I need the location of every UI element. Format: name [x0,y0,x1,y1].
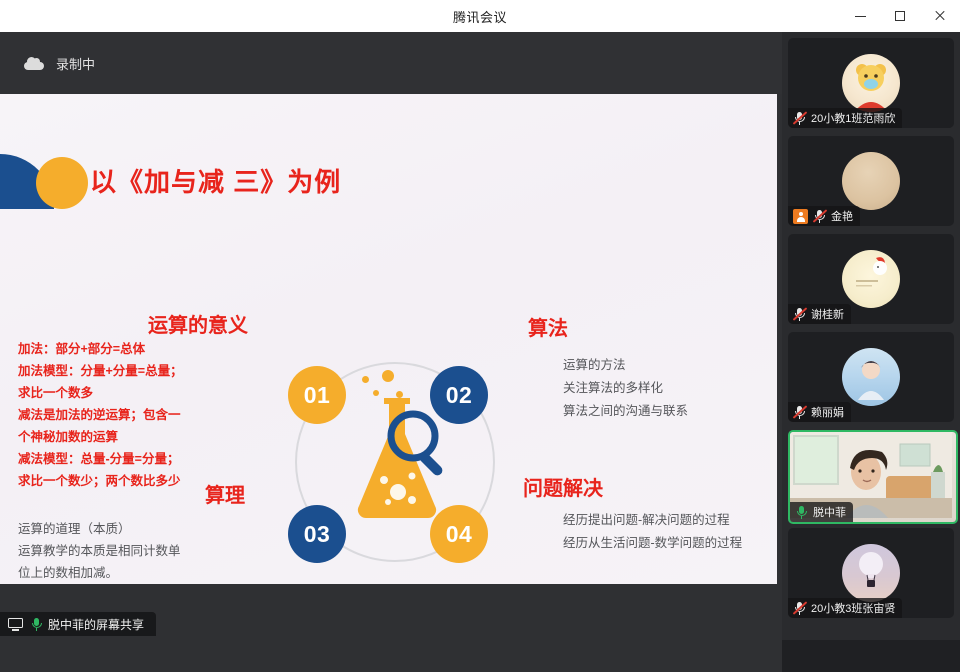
avatar [842,152,900,210]
participant-tile-active-speaker[interactable]: 脱中菲 [788,430,958,524]
avatar [842,544,900,602]
presentation-slide: 以《加与减 三》为例 运算的意义 加法：部分+部分=总体 加法模型：分量+分量=… [0,94,777,584]
method-line: 算法之间的沟通与联系 [563,400,688,423]
participant-name: 赖丽娟 [811,404,844,420]
heading-meaning: 运算的意义 [148,309,248,338]
participant-list[interactable]: 20小教1班范雨欣 金艳 [782,32,960,640]
slide-decoration [0,154,90,209]
meaning-line: 求比一个数少；两个数比多少 [18,470,183,492]
participant-label: 20小教3班张宙贤 [788,598,902,618]
close-icon [934,10,946,22]
heading-problem-solving: 问题解决 [523,472,603,501]
participant-tile[interactable]: 20小教1班范雨欣 [788,38,954,128]
diagram-node-02: 02 [430,366,488,424]
participant-tile[interactable]: 赖丽娟 [788,332,954,422]
reason-text-block: 运算的道理（本质） 运算教学的本质是相同计数单 位上的数相加减。 [18,518,181,584]
participant-tile[interactable]: 20小教3班张宙贤 [788,528,954,618]
participant-name: 20小教3班张宙贤 [811,600,895,616]
participant-label: 金艳 [788,206,860,226]
slide-title: 以《加与减 三》为例 [90,162,341,199]
meaning-line: 个神秘加数的运算 [18,426,183,448]
heading-method: 算法 [528,312,568,341]
screen-share-indicator: 脱中菲的屏幕共享 [0,612,156,636]
maximize-icon [895,11,905,21]
reason-line: 位上的数相加减。 [18,562,181,584]
mic-on-icon [795,505,808,519]
diagram-node-04: 04 [430,505,488,563]
participant-name: 20小教1班范雨欣 [811,110,895,126]
method-line: 关注算法的多样化 [563,377,688,400]
participant-tile[interactable]: 金艳 [788,136,954,226]
meaning-line: 加法模型：分量+分量=总量； [18,360,183,382]
meaning-line: 减法是加法的逆运算；包含一 [18,404,183,426]
participant-label: 20小教1班范雨欣 [788,108,902,128]
recording-bar: 录制中 [0,32,782,94]
recording-label: 录制中 [56,54,95,73]
orange-circle-shape [36,157,88,209]
mic-muted-icon [793,601,806,615]
window-title: 腾讯会议 [453,7,507,26]
maximize-button[interactable] [880,0,920,32]
mic-muted-icon [793,405,806,419]
mic-muted-icon [793,307,806,321]
window-controls [840,0,960,32]
method-line: 运算的方法 [563,354,688,377]
avatar [842,348,900,406]
participant-name: 脱中菲 [813,504,846,520]
problem-line: 经历提出问题-解决问题的过程 [563,509,742,532]
method-text-block: 运算的方法 关注算法的多样化 算法之间的沟通与联系 [563,354,688,423]
problem-line: 经历从生活问题-数学问题的过程 [563,532,742,555]
minimize-button[interactable] [840,0,880,32]
close-button[interactable] [920,0,960,32]
mic-muted-icon [813,209,826,223]
meaning-line: 加法：部分+部分=总体 [18,338,183,360]
participant-label: 谢桂新 [788,304,851,324]
shared-screen-stage[interactable]: 录制中 以《加与减 三》为例 运算的意义 加法：部分+部分=总体 加法模型：分量… [0,32,782,640]
reason-line: 运算的道理（本质） [18,518,181,540]
mic-muted-icon [793,111,806,125]
mic-on-icon [30,617,43,631]
slide-diagram: 01 02 03 04 [285,352,505,572]
avatar [842,54,900,112]
participant-label: 赖丽娟 [788,402,851,422]
participant-name: 谢桂新 [811,306,844,322]
screen-share-label: 脱中菲的屏幕共享 [48,616,144,633]
participant-tile[interactable]: 谢桂新 [788,234,954,324]
tencent-meeting-window: 腾讯会议 录制中 以《加与减 三》为例 运算的意义 加法：部分+部 [0,0,960,640]
reason-line: 运算教学的本质是相同计数单 [18,540,181,562]
screen-share-icon [8,618,23,631]
heading-reason: 算理 [205,479,245,508]
problem-text-block: 经历提出问题-解决问题的过程 经历从生活问题-数学问题的过程 [563,509,742,555]
meaning-line: 求比一个数多 [18,382,183,404]
title-bar: 腾讯会议 [0,0,960,33]
participant-label: 脱中菲 [790,502,853,522]
avatar [842,250,900,308]
minimize-icon [855,16,866,17]
participant-name: 金艳 [831,208,853,224]
host-badge-icon [793,209,808,224]
diagram-node-03: 03 [288,505,346,563]
meaning-line: 减法模型：总量-分量=分量； [18,448,183,470]
diagram-node-01: 01 [288,366,346,424]
cloud-icon [24,57,44,70]
meaning-text-block: 加法：部分+部分=总体 加法模型：分量+分量=总量； 求比一个数多 减法是加法的… [18,338,183,492]
